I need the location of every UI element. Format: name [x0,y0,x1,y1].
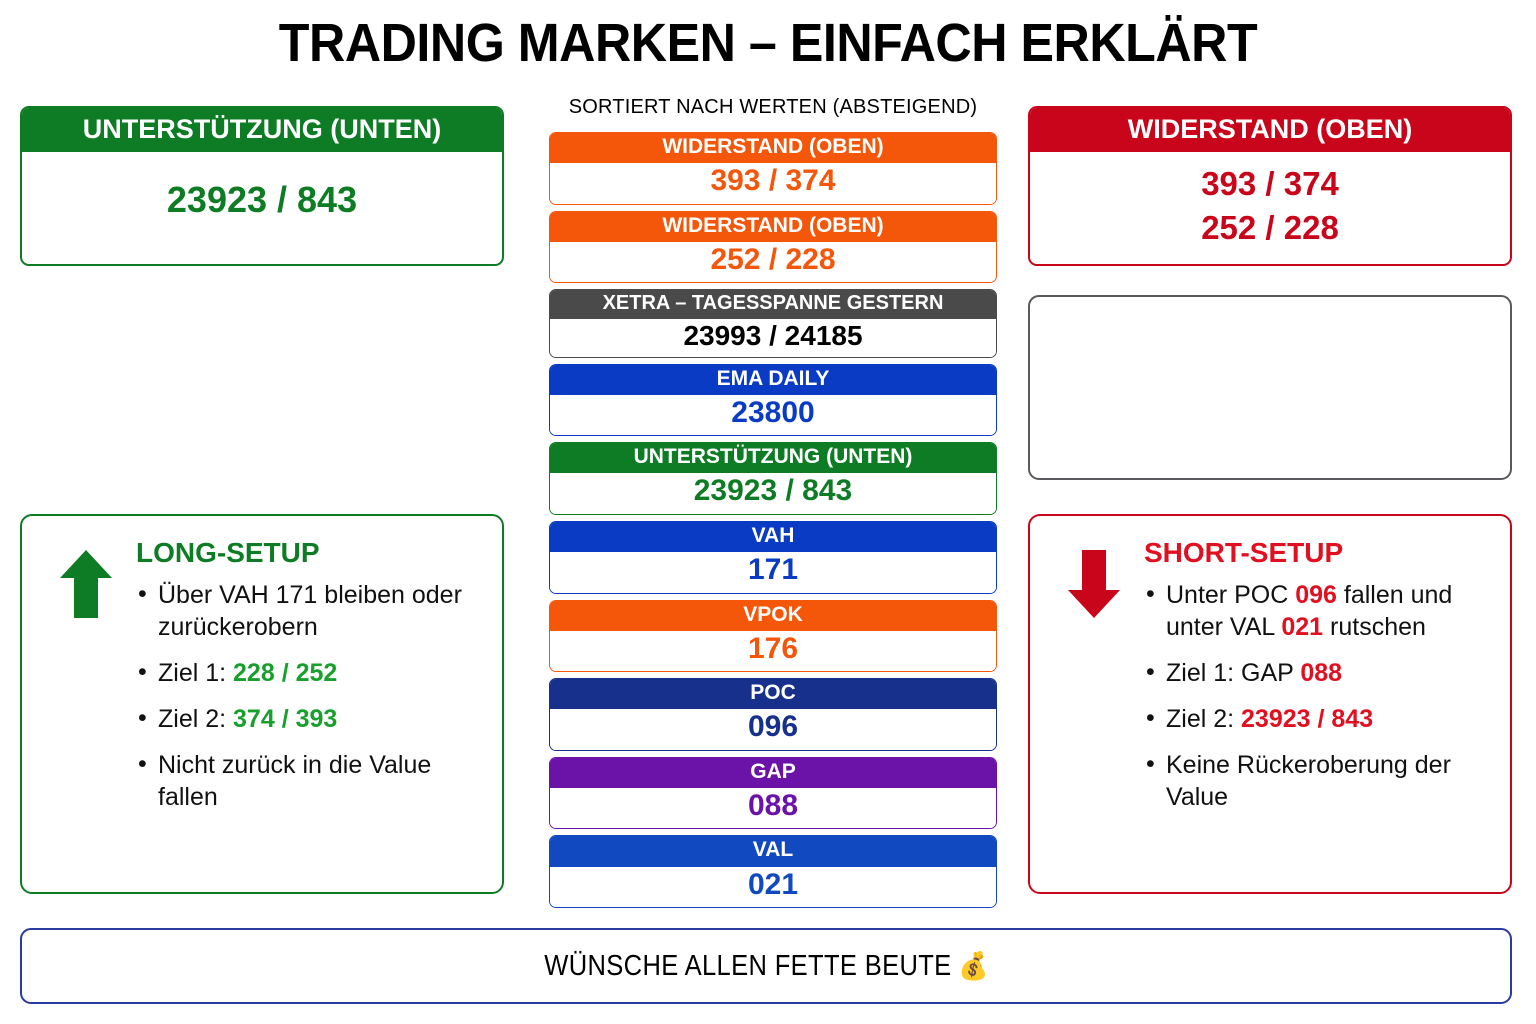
level-value: 171 [550,552,996,593]
level-label: VAH [550,522,996,552]
level-label: UNTERSTÜTZUNG (UNTEN) [550,443,996,473]
level-value: 088 [550,788,996,829]
level-label: GAP [550,758,996,788]
bullet-highlight: 021 [1281,613,1323,641]
bullet-text: Über VAH 171 bleiben oder zurückerobern [158,581,462,641]
setup-bullet: Unter POC 096 fallen und unter VAL 021 r… [1144,579,1492,643]
level-value: 021 [550,867,996,908]
long-setup-bullets: Über VAH 171 bleiben oder zurückerobernZ… [136,579,484,813]
level-value: 252 / 228 [550,242,996,283]
resistance-card-values: 393 / 374 252 / 228 [1030,152,1510,249]
level-value: 176 [550,631,996,672]
resistance-value-line-2: 252 / 228 [1030,206,1510,250]
level-value: 23993 / 24185 [550,319,996,356]
resistance-card-header: WIDERSTAND (OBEN) [1030,108,1510,152]
bullet-text: Ziel 1: GAP [1166,659,1300,687]
level-value: 393 / 374 [550,163,996,204]
resistance-value-line-1: 393 / 374 [1030,162,1510,206]
empty-placeholder-box [1028,295,1512,480]
bullet-text: Ziel 1: [158,659,233,687]
levels-list: WIDERSTAND (OBEN)393 / 374WIDERSTAND (OB… [549,132,997,914]
level-value: 096 [550,709,996,750]
setup-bullet: Nicht zurück in die Value fallen [136,749,484,813]
level-label: POC [550,679,996,709]
bullet-text: Unter POC [1166,581,1295,609]
support-card-header: UNTERSTÜTZUNG (UNTEN) [22,108,502,152]
short-setup-content: SHORT-SETUP Unter POC 096 fallen und unt… [1140,538,1492,876]
support-summary-card: UNTERSTÜTZUNG (UNTEN) 23923 / 843 [20,106,504,266]
bullet-text: Ziel 2: [1166,705,1241,733]
short-setup-title: SHORT-SETUP [1144,538,1492,569]
level-row: VAH171 [549,521,997,594]
setup-bullet: Ziel 1: GAP 088 [1144,657,1492,689]
bullet-text: rutschen [1323,613,1426,641]
money-bag-icon: 💰 [958,951,988,981]
footer-label: WÜNSCHE ALLEN FETTE BEUTE [544,950,951,982]
short-setup-box: SHORT-SETUP Unter POC 096 fallen und unt… [1028,514,1512,894]
level-row: WIDERSTAND (OBEN)393 / 374 [549,132,997,205]
bullet-text: Ziel 2: [158,705,233,733]
bullet-highlight: 23923 / 843 [1241,705,1373,733]
footer-banner: WÜNSCHE ALLEN FETTE BEUTE💰 [20,928,1512,1004]
bullet-highlight: 088 [1300,659,1342,687]
level-label: XETRA – TAGESSPANNE GESTERN [550,290,996,319]
bullet-highlight: 096 [1295,581,1337,609]
setup-bullet: Keine Rückeroberung der Value [1144,749,1492,813]
level-row: XETRA – TAGESSPANNE GESTERN23993 / 24185 [549,289,997,357]
long-setup-title: LONG-SETUP [136,538,484,569]
level-row: UNTERSTÜTZUNG (UNTEN)23923 / 843 [549,442,997,515]
footer-text: WÜNSCHE ALLEN FETTE BEUTE💰 [544,950,988,983]
arrow-up-icon-svg [58,548,114,620]
long-setup-content: LONG-SETUP Über VAH 171 bleiben oder zur… [132,538,484,876]
level-label: VPOK [550,601,996,631]
arrow-down-icon [1048,538,1140,876]
arrow-down-icon-svg [1066,548,1122,620]
arrow-up-icon [40,538,132,876]
level-label: WIDERSTAND (OBEN) [550,212,996,242]
bullet-highlight: 228 / 252 [233,659,337,687]
level-row: VPOK176 [549,600,997,673]
level-row: GAP088 [549,757,997,830]
level-row: WIDERSTAND (OBEN)252 / 228 [549,211,997,284]
sort-order-label: SORTIERT NACH WERTEN (ABSTEIGEND) [548,96,998,119]
long-setup-box: LONG-SETUP Über VAH 171 bleiben oder zur… [20,514,504,894]
level-row: POC096 [549,678,997,751]
level-value: 23923 / 843 [550,473,996,514]
setup-bullet: Ziel 1: 228 / 252 [136,657,484,689]
bullet-highlight: 374 / 393 [233,705,337,733]
level-value: 23800 [550,395,996,436]
level-row: VAL021 [549,835,997,908]
setup-bullet: Ziel 2: 374 / 393 [136,703,484,735]
level-label: VAL [550,836,996,866]
bullet-text: Nicht zurück in die Value fallen [158,751,431,811]
level-label: WIDERSTAND (OBEN) [550,133,996,163]
resistance-summary-card: WIDERSTAND (OBEN) 393 / 374 252 / 228 [1028,106,1512,266]
bullet-text: Keine Rückeroberung der Value [1166,751,1451,811]
support-card-value: 23923 / 843 [22,152,502,220]
level-row: EMA DAILY23800 [549,364,997,437]
page-title: TRADING MARKEN – EINFACH ERKLÄRT [54,12,1482,74]
infographic-page: TRADING MARKEN – EINFACH ERKLÄRT UNTERST… [0,0,1536,1024]
setup-bullet: Über VAH 171 bleiben oder zurückerobern [136,579,484,643]
setup-bullet: Ziel 2: 23923 / 843 [1144,703,1492,735]
level-label: EMA DAILY [550,365,996,395]
short-setup-bullets: Unter POC 096 fallen und unter VAL 021 r… [1144,579,1492,813]
